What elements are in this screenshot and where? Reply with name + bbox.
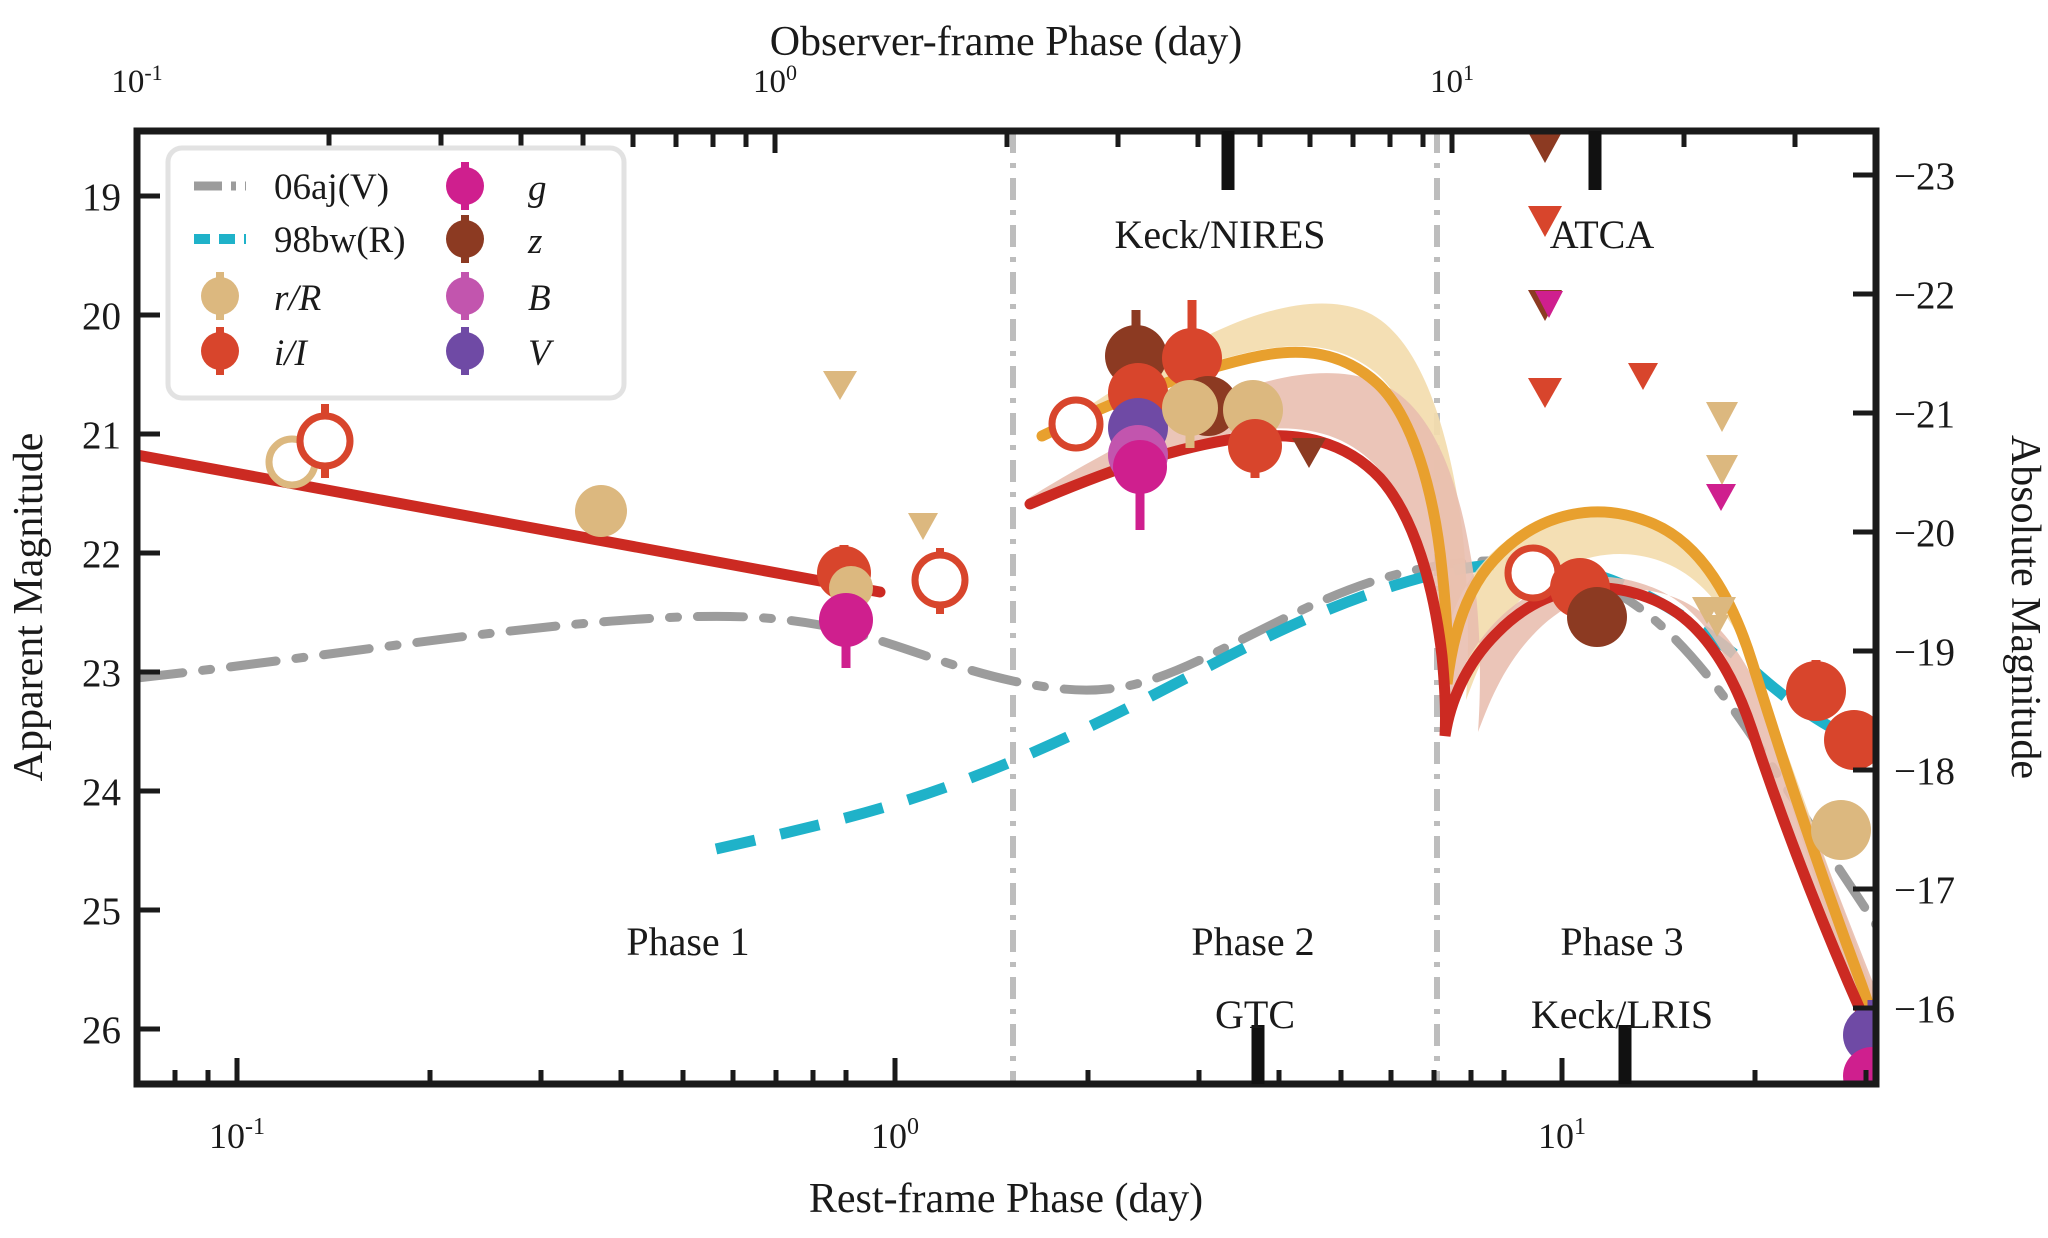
legend-label: r/R	[274, 278, 321, 319]
instrument-label-keck-lris: Keck/LRIS	[1531, 992, 1713, 1037]
legend-label: 98bw(R)	[274, 220, 406, 261]
legend[interactable]: 06aj(V) 98bw(R) r/R i/I g z	[168, 148, 624, 398]
bottom-axis-title: Rest-frame Phase (day)	[809, 1176, 1203, 1222]
circle-marker-icon	[446, 220, 484, 258]
left-tick-label: 20	[82, 295, 121, 338]
legend-label: z	[527, 221, 542, 262]
right-tick-label: −21	[1894, 393, 1955, 436]
right-tick-label: −18	[1894, 750, 1955, 793]
right-axis-title: Absolute Magnitude	[2002, 435, 2048, 779]
left-tick-label: 23	[82, 652, 121, 695]
right-tick-label: −16	[1894, 988, 1955, 1031]
circle-marker-icon	[201, 332, 239, 370]
data-point-rR	[575, 485, 627, 537]
phase-label-3: Phase 3	[1560, 919, 1683, 964]
circle-marker-icon	[201, 277, 239, 315]
legend-label: g	[528, 168, 547, 209]
circle-marker-icon	[446, 332, 484, 370]
left-axis-title: Apparent Magnitude	[6, 433, 52, 782]
phase-label-2: Phase 2	[1191, 919, 1314, 964]
legend-label: B	[528, 278, 551, 319]
left-tick-label: 21	[82, 414, 121, 457]
data-point-iI	[1052, 400, 1100, 448]
top-axis-title: Observer-frame Phase (day)	[770, 19, 1243, 65]
phase-label-1: Phase 1	[626, 919, 749, 964]
right-tick-label: −23	[1894, 155, 1955, 198]
left-tick-label: 19	[82, 176, 121, 219]
data-point-rR	[1811, 800, 1871, 860]
instrument-label-gtc: GTC	[1215, 992, 1295, 1037]
instrument-label-atca: ATCA	[1550, 212, 1655, 257]
circle-marker-icon	[446, 277, 484, 315]
figure-root: Observer-frame Phase (day) Rest-frame Ph…	[0, 0, 2048, 1238]
right-tick-label: −20	[1894, 512, 1955, 555]
left-tick-label: 22	[82, 533, 121, 576]
right-tick-label: −22	[1894, 274, 1955, 317]
right-tick-label: −17	[1894, 869, 1955, 912]
light-curve-figure: Observer-frame Phase (day) Rest-frame Ph…	[0, 0, 2048, 1238]
circle-marker-icon	[446, 167, 484, 205]
legend-label: 06aj(V)	[274, 167, 389, 208]
left-tick-label: 24	[82, 771, 121, 814]
right-tick-label: −19	[1894, 631, 1955, 674]
left-tick-label: 25	[82, 890, 121, 933]
instrument-label-keck-nires: Keck/NIRES	[1114, 212, 1325, 257]
data-point-z	[1567, 587, 1627, 647]
left-tick-label: 26	[82, 1009, 121, 1052]
legend-label: i/I	[274, 333, 309, 374]
